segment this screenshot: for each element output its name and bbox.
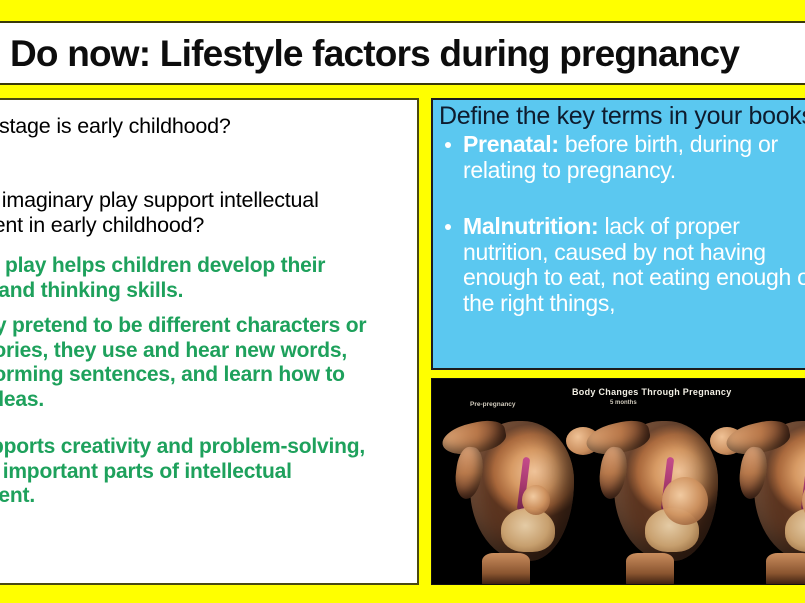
anatomy-figure-prepregnancy: [448, 411, 596, 571]
bottom-yellow-strip: [0, 586, 805, 603]
slide-title-bar: Do now: Lifestyle factors during pregnan…: [0, 21, 805, 85]
spacer: [0, 238, 401, 254]
spacer: [0, 139, 401, 149]
pelvis-shape: [501, 508, 555, 552]
question-2: How does imaginary play support intellec…: [0, 188, 401, 238]
answer-2-paragraph-1: Imaginary play helps children develop th…: [0, 254, 401, 304]
answer-1: 3-8 years: [0, 149, 401, 172]
spacer: [0, 304, 401, 314]
question-1: Which life stage is early childhood?: [0, 114, 401, 139]
womb-shape: [662, 477, 708, 525]
key-term-item-prenatal: Prenatal: before birth, during or relati…: [443, 132, 805, 184]
image-caption-left: Pre-pregnancy: [470, 401, 516, 408]
answer-2-paragraph-2: When they pretend to be different charac…: [0, 314, 401, 413]
answer-2-paragraph-3: It also supports creativity and problem-…: [0, 435, 401, 509]
leg-shape: [626, 553, 674, 585]
anatomy-figure-five-months: [592, 411, 740, 571]
key-term-label: Prenatal:: [463, 131, 559, 157]
anatomy-figure-third: [732, 411, 805, 571]
bullet-dot-icon: [445, 224, 451, 230]
page-title: Do now: Lifestyle factors during pregnan…: [0, 35, 739, 72]
spacer: [0, 413, 401, 435]
slide-root: Do now: Lifestyle factors during pregnan…: [0, 0, 805, 603]
womb-shape: [522, 485, 550, 515]
key-terms-list: Prenatal: before birth, during or relati…: [433, 129, 805, 317]
left-content-panel: Which life stage is early childhood? 3-8…: [0, 98, 419, 585]
pelvis-shape: [785, 508, 805, 552]
key-terms-panel: Define the key terms in your books: Pren…: [431, 98, 805, 370]
leg-shape: [482, 553, 530, 585]
image-caption-sub: 5 months: [610, 400, 637, 406]
key-term-item-malnutrition: Malnutrition: lack of proper nutrition, …: [443, 214, 805, 317]
key-terms-heading: Define the key terms in your books:: [433, 103, 805, 129]
mid-yellow-strip: [0, 87, 805, 98]
top-yellow-strip: [0, 0, 805, 21]
key-term-label: Malnutrition:: [463, 213, 598, 239]
leg-shape: [766, 553, 805, 585]
pregnancy-anatomy-image: Pre-pregnancy Body Changes Through Pregn…: [431, 378, 805, 585]
bullet-dot-icon: [445, 142, 451, 148]
image-caption-main: Body Changes Through Pregnancy: [572, 387, 732, 397]
spacer: [0, 172, 401, 188]
